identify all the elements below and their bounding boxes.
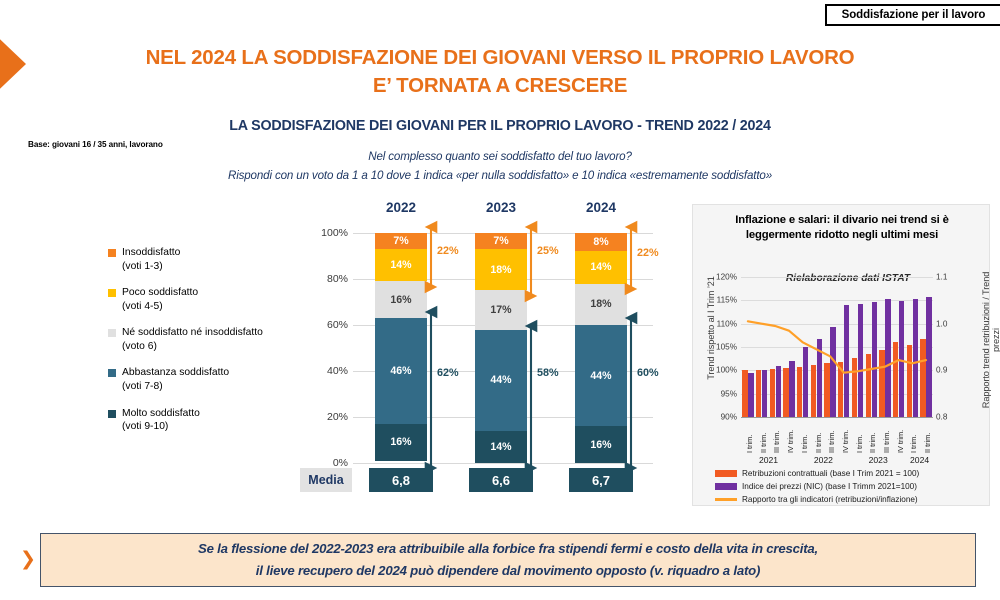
bar-segment-abbastanza: 44%: [475, 330, 527, 431]
survey-question: Nel complesso quanto sei soddisfatto del…: [140, 148, 860, 186]
bar-segment-molto: 16%: [375, 424, 427, 461]
inset-y-axis-right-title: Rapporto trend retribuzioni / Trend prez…: [981, 265, 1000, 415]
legend-label: Poco soddisfatto: [122, 287, 198, 298]
page-title-line2: E’ TORNATA A CRESCERE: [120, 72, 880, 100]
stacked-bar-chart: 2022 2023 2024 100% 80% 60% 40% 20% 0% 7…: [300, 200, 680, 500]
annotation-bottom-2022: 62%: [437, 367, 459, 379]
survey-question-line2: Rispondi con un voto da 1 a 10 dove 1 in…: [140, 167, 860, 186]
inset-x-tick: II trim.: [814, 433, 823, 453]
inset-y-tick-left: 105%: [705, 343, 737, 352]
inset-x-tick: II trim.: [923, 433, 932, 453]
annotation-top-2022: 22%: [437, 245, 459, 257]
legend-swatch-icon: [108, 410, 116, 418]
header-badge-label: Soddisfazione per il lavoro: [842, 9, 986, 21]
legend-sublabel: (voti 9-10): [122, 420, 200, 434]
bar-segment-molto: 14%: [475, 431, 527, 463]
y-axis-tick: 60%: [300, 319, 348, 331]
annotation-bottom-2023: 58%: [537, 367, 559, 379]
inset-y-tick-right: 1.0: [936, 319, 968, 328]
y-axis-tick: 40%: [300, 365, 348, 377]
bar-segment-ne-ne: 16%: [375, 281, 427, 318]
bar-stack-2023[interactable]: 7% 18% 17% 44% 14%: [475, 233, 527, 463]
inset-x-tick: III trim.: [772, 431, 781, 453]
inset-x-tick: IV trim.: [786, 430, 795, 453]
bar-segment-poco: 18%: [475, 249, 527, 290]
inset-axis-line: [741, 417, 933, 418]
bar-group-year-2023: 2023: [466, 200, 536, 215]
y-axis-tick: 100%: [300, 227, 348, 239]
legend-swatch-icon: [108, 249, 116, 257]
callout-box: Se la flessione del 2022-2023 era attrib…: [40, 533, 976, 587]
page-title-line1: NEL 2024 LA SODDISFAZIONE DEI GIOVANI VE…: [120, 44, 880, 72]
bar-segment-molto: 16%: [575, 426, 627, 463]
media-value-2024: 6,7: [569, 468, 633, 492]
inset-year-group: 2024: [906, 455, 934, 465]
media-value-2023: 6,6: [469, 468, 533, 492]
legend-sublabel: (voti 1-3): [122, 260, 180, 274]
callout-chevron-icon: ❯: [20, 548, 36, 570]
bar-segment-abbastanza: 44%: [575, 325, 627, 426]
chart-legend: Insoddisfatto (voti 1-3) Poco soddisfatt…: [108, 246, 304, 447]
legend-swatch-icon: [108, 289, 116, 297]
inset-y-tick-left: 120%: [705, 273, 737, 282]
inset-x-tick: I trim.: [800, 435, 809, 453]
bar-segment-poco: 14%: [375, 249, 427, 281]
inset-y-tick-right: 0.9: [936, 366, 968, 375]
bar-segment-insoddisfatto: 7%: [375, 233, 427, 249]
legend-item-insoddisfatto: Insoddisfatto (voti 1-3): [108, 246, 304, 273]
inflation-wages-panel: Inflazione e salari: il divario nei tren…: [692, 204, 990, 506]
inset-y-tick-left: 90%: [705, 413, 737, 422]
inset-legend-item-retribuzioni: Retribuzioni contrattuali (base I Trim 2…: [715, 469, 919, 478]
inset-ratio-line: [741, 277, 933, 417]
media-row-label: Media: [300, 468, 352, 492]
inset-x-tick: III trim.: [882, 431, 891, 453]
gridline: [353, 463, 653, 464]
legend-sublabel: (voto 6): [122, 340, 263, 354]
legend-swatch-icon: [715, 483, 737, 490]
legend-swatch-icon: [715, 470, 737, 477]
inset-plot-area: [741, 277, 933, 417]
inset-legend-item-rapporto: Rapporto tra gli indicatori (retribuzion…: [715, 495, 918, 504]
y-axis-tick: 80%: [300, 273, 348, 285]
inset-x-tick: I trim.: [909, 435, 918, 453]
legend-item-abbastanza-soddisfatto: Abbastanza soddisfatto (voti 7-8): [108, 366, 304, 393]
bar-segment-insoddisfatto: 7%: [475, 233, 527, 249]
survey-question-line1: Nel complesso quanto sei soddisfatto del…: [140, 148, 860, 167]
bar-segment-ne-ne: 18%: [575, 284, 627, 325]
legend-item-poco-soddisfatto: Poco soddisfatto (voti 4-5): [108, 286, 304, 313]
inset-chart-title: Inflazione e salari: il divario nei tren…: [709, 213, 975, 243]
legend-item-molto-soddisfatto: Molto soddisfatto (voti 9-10): [108, 407, 304, 434]
bar-segment-poco: 14%: [575, 251, 627, 283]
header-section-badge: Soddisfazione per il lavoro: [825, 4, 1000, 26]
inset-x-tick: I trim.: [745, 435, 754, 453]
inset-y-tick-left: 95%: [705, 389, 737, 398]
bar-group-year-2024: 2024: [566, 200, 636, 215]
chart-subtitle: LA SODDISFAZIONE DEI GIOVANI PER IL PROP…: [130, 118, 870, 134]
callout-line2: il lieve recupero del 2024 può dipendere…: [198, 560, 818, 582]
y-axis-tick: 20%: [300, 411, 348, 423]
legend-line-icon: [715, 498, 737, 501]
page-title: NEL 2024 LA SODDISFAZIONE DEI GIOVANI VE…: [120, 44, 880, 101]
inset-year-group: 2022: [796, 455, 851, 465]
bar-segment-abbastanza: 46%: [375, 318, 427, 424]
annotation-top-2024: 22%: [637, 247, 659, 259]
legend-item-ne-soddisfatto: Né soddisfatto né insoddisfatto (voto 6): [108, 326, 304, 353]
annotation-bottom-2024: 60%: [637, 367, 659, 379]
inset-x-tick: II trim.: [759, 433, 768, 453]
inset-y-tick-right: 1.1: [936, 273, 968, 282]
annotation-top-2023: 25%: [537, 245, 559, 257]
inset-x-tick: IV trim.: [841, 430, 850, 453]
inset-x-tick: II trim.: [868, 433, 877, 453]
legend-sublabel: (voti 4-5): [122, 300, 198, 314]
legend-label: Molto soddisfatto: [122, 408, 200, 419]
legend-swatch-icon: [108, 329, 116, 337]
inset-legend-item-prezzi: Indice dei prezzi (NIC) (base I Trimm 20…: [715, 482, 917, 491]
left-chevron-icon: [0, 22, 38, 106]
bar-stack-2022[interactable]: 7% 14% 16% 46% 16%: [375, 233, 427, 461]
bar-group-year-2022: 2022: [366, 200, 436, 215]
legend-label: Insoddisfatto: [122, 247, 180, 258]
bar-segment-insoddisfatto: 8%: [575, 233, 627, 251]
inset-x-tick: IV trim.: [896, 430, 905, 453]
legend-swatch-icon: [108, 369, 116, 377]
media-value-2022: 6,8: [369, 468, 433, 492]
inset-y-tick-left: 110%: [705, 319, 737, 328]
inset-x-tick: III trim.: [827, 431, 836, 453]
inset-legend-label: Rapporto tra gli indicatori (retribuzion…: [742, 495, 918, 504]
inset-year-group: 2021: [741, 455, 796, 465]
inset-y-tick-left: 100%: [705, 366, 737, 375]
bar-stack-2024[interactable]: 8% 14% 18% 44% 16%: [575, 233, 627, 463]
legend-label: Né soddisfatto né insoddisfatto: [122, 327, 263, 338]
inset-y-tick-left: 115%: [705, 296, 737, 305]
inset-legend-label: Indice dei prezzi (NIC) (base I Trimm 20…: [742, 482, 917, 491]
inset-legend-label: Retribuzioni contrattuali (base I Trim 2…: [742, 469, 919, 478]
bar-segment-ne-ne: 17%: [475, 290, 527, 329]
legend-label: Abbastanza soddisfatto: [122, 367, 229, 378]
inset-y-tick-right: 0.8: [936, 413, 968, 422]
callout-line1: Se la flessione del 2022-2023 era attrib…: [198, 538, 818, 560]
inset-x-tick: I trim.: [855, 435, 864, 453]
inset-year-group: 2023: [851, 455, 906, 465]
legend-sublabel: (voti 7-8): [122, 380, 229, 394]
